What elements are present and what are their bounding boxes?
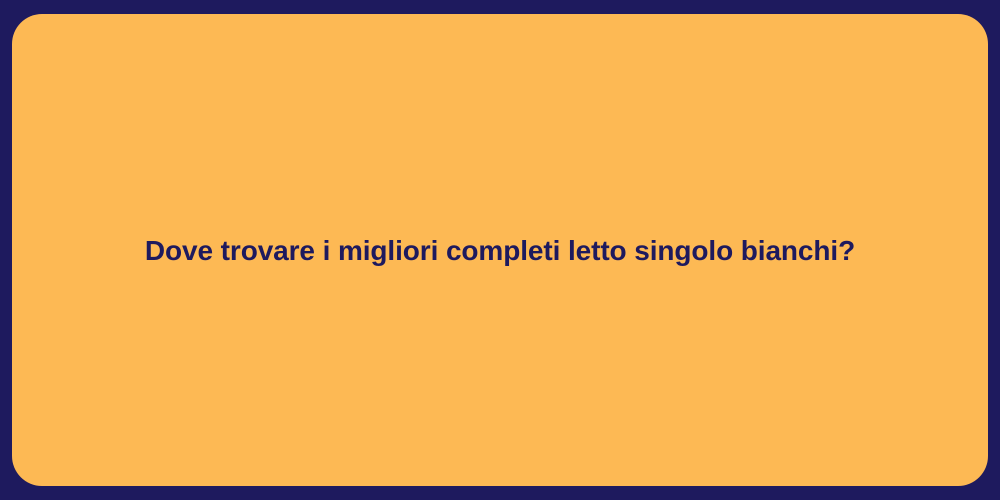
page-title: Dove trovare i migliori completi letto s… bbox=[115, 233, 885, 268]
content-card: Dove trovare i migliori completi letto s… bbox=[12, 14, 988, 486]
banner-root: Dove trovare i migliori completi letto s… bbox=[0, 0, 1000, 500]
